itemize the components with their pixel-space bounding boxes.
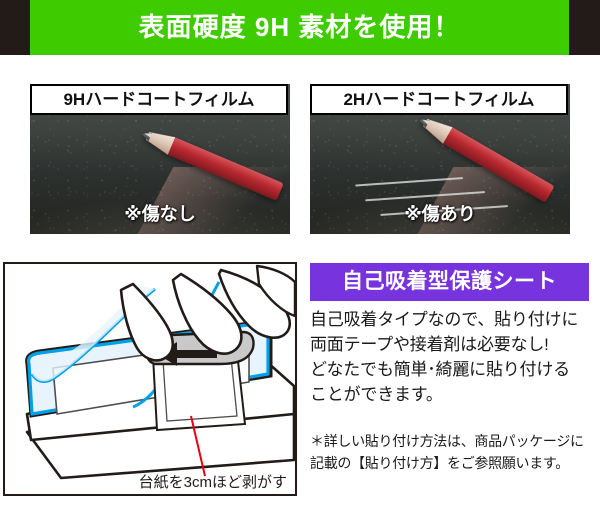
feature-body-line: 自己吸着タイプなので、貼り付けに (310, 307, 595, 332)
feature-note-line: ＊詳しい貼り付け方法は、商品パッケージに (310, 430, 595, 452)
photo-caption-2h: ※傷あり (310, 200, 570, 226)
photo-caption-9h: ※傷なし (30, 200, 290, 226)
feature-body-line: ことができます。 (310, 382, 595, 407)
comparison-panel-9h: ※傷なし 9Hハードコートフィルム (30, 84, 290, 234)
illustration-caption: 台紙を3cmほど剥がす (139, 471, 287, 492)
feature-body-line: 両面テープや接着剤は必要なし! (310, 332, 595, 357)
self-adhesive-feature-panel: 自己吸着型保護シート 自己吸着タイプなので、貼り付けに 両面テープや接着剤は必要… (310, 262, 595, 502)
hardness-comparison: ※傷なし 9Hハードコートフィルム ※傷あり 2Hハードコートフィルム (0, 62, 600, 237)
feature-banner-title: 自己吸着型保護シート (310, 263, 589, 301)
feature-note-text: ＊詳しい貼り付け方法は、商品パッケージに 記載の【貼り付け方】をご参照願います。 (310, 430, 595, 474)
peel-backing-illustration (5, 264, 295, 494)
application-illustration-panel: 台紙を3cmほど剥がす (3, 262, 297, 496)
feature-body-text: 自己吸着タイプなので、貼り付けに 両面テープや接着剤は必要なし! どなたでも簡単… (310, 307, 595, 407)
page-title: 表面硬度 9H 素材を使用！ (30, 0, 569, 55)
comparison-panel-2h: ※傷あり 2Hハードコートフィルム (310, 84, 570, 234)
feature-note-line: 記載の【貼り付け方】をご参照願います。 (310, 452, 595, 474)
photo-label-2h: 2Hハードコートフィルム (310, 84, 568, 115)
feature-body-line: どなたでも簡単･綺麗に貼り付ける (310, 357, 595, 382)
header-band: 表面硬度 9H 素材を使用！ (0, 0, 600, 55)
photo-label-9h: 9Hハードコートフィルム (30, 84, 288, 115)
